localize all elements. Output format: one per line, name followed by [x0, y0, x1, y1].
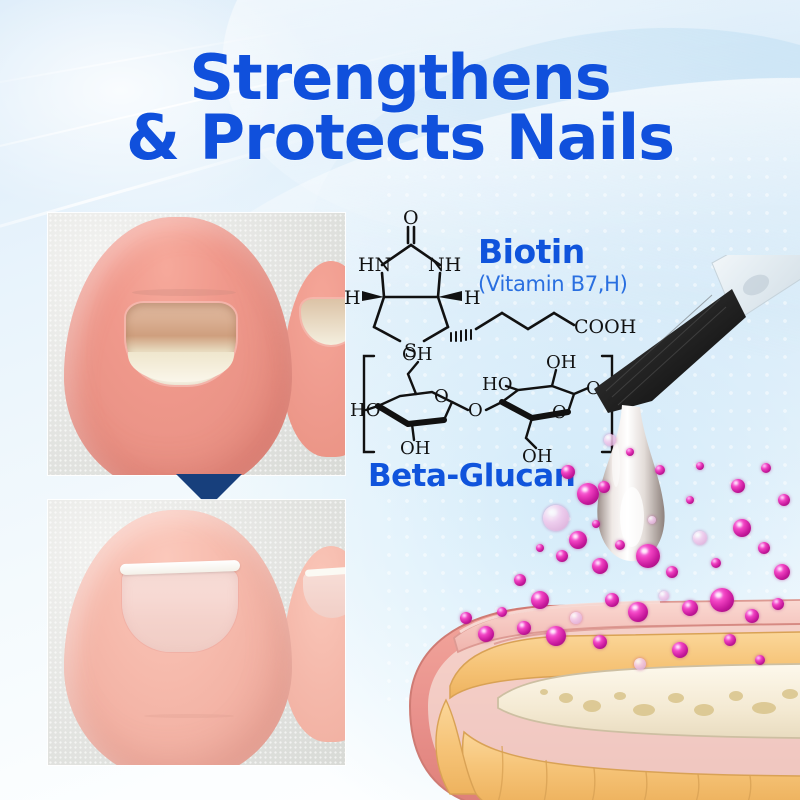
bubble-icon — [569, 531, 587, 549]
bubble-icon — [659, 591, 669, 601]
bubble-icon — [745, 609, 759, 623]
poster-canvas: Strengthens & Protects Nails — [0, 0, 800, 800]
page-title: Strengthens & Protects Nails — [0, 48, 800, 167]
bubble-icon — [655, 465, 665, 475]
bubble-icon — [626, 448, 634, 456]
ingredient-label-beta-glucan: Beta-Glucan — [368, 458, 575, 494]
bubble-icon — [724, 634, 736, 646]
atom-label-HN: HN — [358, 254, 391, 276]
bubble-icon — [577, 483, 599, 505]
bubble-icon — [592, 520, 600, 528]
bubble-icon — [693, 531, 707, 545]
bubble-icon — [772, 598, 784, 610]
page-title-line2: & Protects Nails — [0, 108, 800, 168]
bubble-icon — [778, 494, 790, 506]
nail-cross-section-icon — [398, 580, 800, 800]
healthy-toenail — [122, 568, 238, 652]
atom-label-NH: NH — [428, 254, 461, 276]
atom-label-OH-1: OH — [402, 344, 432, 365]
bubble-icon — [711, 558, 721, 568]
bubble-icon — [731, 479, 745, 493]
bubble-icon — [604, 434, 616, 446]
bubble-icon — [733, 519, 751, 537]
atom-label-O-glycosidic: O — [468, 400, 483, 421]
atom-label-H-left: H — [344, 287, 361, 309]
bubble-icon — [682, 600, 698, 616]
wedge-right — [438, 291, 462, 301]
before-photo — [48, 213, 345, 475]
brush-bristles — [594, 289, 746, 413]
bubble-icon — [556, 550, 568, 562]
bubble-icon — [536, 544, 544, 552]
bubble-icon — [531, 591, 549, 609]
bubble-icon — [570, 612, 582, 624]
bubble-icon — [615, 540, 625, 550]
atom-label-HO-2: HO — [482, 374, 512, 395]
bubble-icon — [761, 463, 771, 473]
bubble-icon — [648, 516, 656, 524]
bubble-icon — [636, 544, 660, 568]
bubble-icon — [628, 602, 648, 622]
bubble-icon — [561, 465, 575, 479]
atom-label-O-ring-left: O — [434, 386, 449, 407]
atom-label-HO-1: HO — [350, 400, 380, 421]
bubble-icon — [460, 612, 472, 624]
atom-label-OH-2: OH — [400, 438, 430, 459]
bubble-icon — [497, 607, 507, 617]
wedge-left — [362, 291, 384, 301]
bubble-icon — [710, 588, 734, 612]
bubble-icon — [634, 658, 646, 670]
bubble-icon — [666, 566, 678, 578]
bubble-icon — [593, 635, 607, 649]
bubble-icon — [517, 621, 531, 635]
bubble-icon — [755, 655, 765, 665]
bubble-icon — [543, 505, 569, 531]
bubble-icon — [514, 574, 526, 586]
atom-label-O: O — [403, 207, 419, 229]
bubble-icon — [774, 564, 790, 580]
bubble-icon — [686, 496, 694, 504]
bubble-icon — [605, 593, 619, 607]
skin-crease-after — [144, 714, 234, 718]
cuticle-line-before — [132, 289, 236, 296]
bubble-icon — [598, 481, 610, 493]
bubble-icon — [546, 626, 566, 646]
bubble-icon — [478, 626, 494, 642]
bubble-icon — [696, 462, 704, 470]
bubble-icon — [672, 642, 688, 658]
after-photo — [48, 500, 345, 765]
bubble-icon — [758, 542, 770, 554]
bubble-icon — [592, 558, 608, 574]
